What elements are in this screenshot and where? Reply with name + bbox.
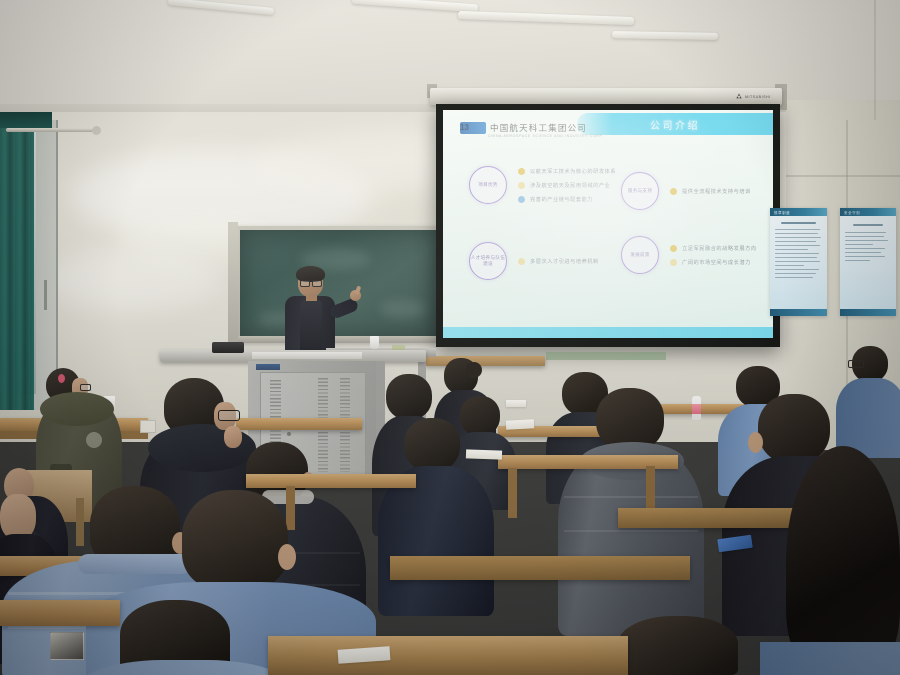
bullet-text: 以航天军工技术为核心的研发体系 — [530, 168, 616, 175]
classroom-photo: MITSUBISHI 公司介绍 中国航天科工集团公司 13 CHINA AERO… — [0, 0, 900, 675]
desk-leg — [508, 468, 517, 518]
slide-group-label: 服务与支持 — [628, 188, 652, 194]
loose-paper[interactable] — [466, 449, 502, 459]
projector-brand-label: MITSUBISHI — [745, 95, 771, 99]
bullet-dot-icon — [670, 259, 677, 266]
bullet-dot-icon — [518, 258, 525, 265]
presentation-slide: 公司介绍 中国航天科工集团公司 13 CHINA AEROSPACE SCIEN… — [443, 110, 773, 338]
slide-bullet: 广阔的市场空间与成长潜力 — [670, 259, 757, 266]
slide-group: 项目优势 以航天军工技术为核心的研发体系 涉及航空航天及民用领域的产业 完善的产… — [469, 166, 616, 204]
slide-bullet-list: 多层次人才引进与培养机制 — [518, 258, 599, 265]
desk-leg — [646, 466, 655, 512]
bullet-dot-icon — [518, 196, 525, 203]
wall-seam — [874, 0, 876, 120]
classroom-desk — [268, 636, 628, 675]
podium-control-panel[interactable] — [252, 352, 362, 359]
classroom-desk — [390, 556, 690, 580]
slide-bullet: 提供全流程技术支持与培训 — [670, 188, 751, 195]
slide-group-label: 人才培养与队伍建设 — [470, 255, 506, 267]
projection-screen-case: MITSUBISHI — [430, 88, 782, 105]
bullet-text: 提供全流程技术支持与培训 — [682, 188, 751, 195]
poster-footer — [840, 309, 896, 316]
slide-group: 服务与支持 提供全流程技术支持与培训 — [621, 172, 751, 210]
poster-body — [770, 216, 827, 285]
poster-header-text: 安全守则 — [840, 208, 896, 215]
bullet-text: 完善的产业链与配套能力 — [530, 196, 593, 203]
wall-poster: 安全守则 — [840, 208, 896, 316]
loose-paper[interactable] — [506, 419, 534, 429]
slide-bullet: 以航天军工技术为核心的研发体系 — [518, 168, 616, 175]
curtain-rod-end — [92, 126, 101, 135]
slide-group-circle: 项目优势 — [469, 166, 507, 204]
glasses-bridge-icon — [300, 280, 321, 286]
slide-group-circle: 人才培养与队伍建设 — [469, 242, 507, 280]
slide-bullet: 完善的产业链与配套能力 — [518, 196, 616, 203]
slide-group-label: 项目优势 — [478, 182, 498, 188]
slide-bullet: 多层次人才引进与培养机制 — [518, 258, 599, 265]
slide-footer-bar — [443, 327, 773, 338]
slide-company-logo: 中国航天科工集团公司 — [460, 122, 587, 134]
podium-device[interactable] — [212, 342, 244, 353]
slide-header-banner: 公司介绍 — [577, 113, 773, 135]
slide-bullet: 涉及航空航天及民用领域的产业 — [518, 182, 616, 189]
podium-brand-label — [256, 364, 280, 370]
company-name-en: CHINA AEROSPACE SCIENCE AND INDUSTRY COR… — [488, 134, 602, 138]
wall-power-outlet[interactable] — [140, 420, 156, 433]
classroom-desk — [0, 600, 120, 626]
classroom-desk — [246, 474, 416, 488]
desk-leg — [286, 486, 295, 530]
bullet-dot-icon — [670, 188, 677, 195]
podium-door-handle[interactable] — [287, 432, 291, 436]
lecturer-vest — [300, 300, 322, 354]
slide-bullet-list: 立足军民融合的战略发展方向 广阔的市场空间与成长潜力 — [670, 245, 757, 266]
green-window-curtain[interactable] — [0, 118, 34, 410]
podium-vent — [270, 380, 281, 442]
bullet-text: 多层次人才引进与培养机制 — [530, 258, 599, 265]
bullet-text: 涉及航空航天及民用领域的产业 — [530, 182, 610, 189]
slide-group: 人才培养与队伍建设 多层次人才引进与培养机制 — [469, 242, 599, 280]
curtain-rod — [6, 128, 96, 132]
water-bottle-label — [692, 404, 701, 414]
classroom-desk — [425, 356, 545, 366]
slide-group: 发展前景 立足军民融合的战略发展方向 广阔的市场空间与成长潜力 — [621, 236, 757, 274]
curtain-valance — [0, 112, 52, 128]
logo-number: 13 — [460, 123, 469, 132]
poster-body — [840, 216, 896, 268]
slide-bullet-list: 提供全流程技术支持与培训 — [670, 188, 751, 195]
chalk-tray — [236, 336, 440, 343]
poster-header-text: 规章制度 — [770, 208, 827, 215]
bullet-text: 立足军民融合的战略发展方向 — [682, 245, 757, 252]
loose-paper[interactable] — [506, 400, 526, 407]
bullet-text: 广阔的市场空间与成长潜力 — [682, 259, 751, 266]
chalk-smudge — [380, 300, 426, 318]
poster-footer — [770, 309, 827, 316]
blackboard-side-strip — [228, 222, 238, 346]
wall-trim — [546, 352, 666, 360]
wall-seam — [786, 175, 900, 177]
slide-title: 公司介绍 — [650, 117, 700, 132]
slide-bullet: 立足军民融合的战略发展方向 — [670, 245, 757, 252]
paper-cup[interactable] — [370, 336, 379, 349]
poster-header: 安全守则 — [840, 208, 896, 216]
bullet-dot-icon — [670, 245, 677, 252]
slide-bullet-list: 以航天军工技术为核心的研发体系 涉及航空航天及民用领域的产业 完善的产业链与配套… — [518, 168, 616, 203]
bullet-dot-icon — [518, 182, 525, 189]
wall-poster: 规章制度 — [770, 208, 827, 316]
slide-group-circle: 发展前景 — [621, 236, 659, 274]
bullet-dot-icon — [518, 168, 525, 175]
wall-stain — [40, 250, 220, 310]
classroom-desk — [236, 418, 362, 430]
bench-leg — [76, 498, 84, 546]
poster-header: 规章制度 — [770, 208, 827, 216]
slide-group-circle: 服务与支持 — [621, 172, 659, 210]
mitsubishi-logo-icon: MITSUBISHI — [735, 92, 781, 101]
company-name-cn: 中国航天科工集团公司 — [490, 122, 587, 134]
slide-group-label: 发展前景 — [630, 252, 650, 258]
window-handle[interactable] — [44, 280, 47, 310]
